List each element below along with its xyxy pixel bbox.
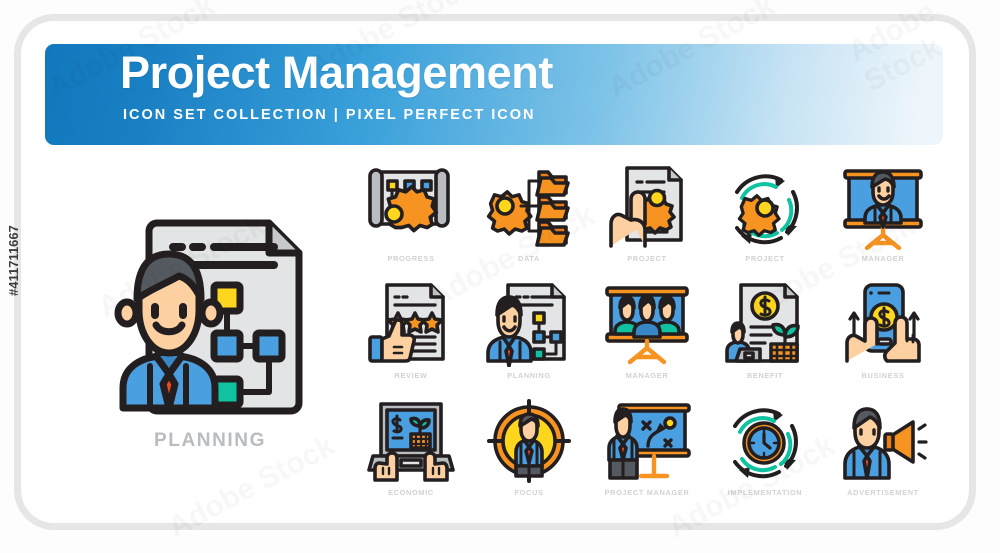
- icon-caption: BUSINESS: [862, 371, 905, 380]
- icon-cell-planning[interactable]: PLANNING: [470, 279, 588, 396]
- page-subtitle: ICON SET COLLECTION | PIXEL PERFECT ICON: [123, 107, 535, 123]
- icon-caption: ADVERTISEMENT: [847, 488, 919, 497]
- icon-cell-benefit[interactable]: BENEFIT: [706, 279, 824, 396]
- presentation-board-team-icon: [601, 279, 693, 367]
- person-strategy-board-icon: [601, 396, 693, 484]
- person-flowchart-document-icon: [483, 279, 575, 367]
- hero-label: PLANNING: [154, 430, 266, 452]
- icon-caption: MANAGER: [626, 371, 669, 380]
- blueprint-gear-icon: [365, 162, 457, 250]
- icon-cell-progress[interactable]: PROGRESS: [352, 162, 470, 279]
- planning-document-person-icon: [110, 215, 310, 420]
- presentation-board-person-icon: [837, 162, 929, 250]
- icon-caption: MANAGER: [862, 254, 905, 263]
- icon-caption: ECONOMIC: [388, 488, 434, 497]
- icon-caption: FOCUS: [514, 488, 543, 497]
- thumbs-up-star-rating-document-icon: [365, 279, 457, 367]
- icon-cell-manager-team[interactable]: MANAGER: [588, 279, 706, 396]
- icon-caption: PROJECT: [627, 254, 666, 263]
- target-person-icon: [483, 396, 575, 484]
- icon-caption: DATA: [518, 254, 540, 263]
- icon-cell-manager-board[interactable]: MANAGER: [824, 162, 942, 279]
- icon-cell-economic[interactable]: ECONOMIC: [352, 396, 470, 513]
- header-banner: Project Management ICON SET COLLECTION |…: [45, 44, 943, 145]
- icon-cell-review[interactable]: REVIEW: [352, 279, 470, 396]
- icon-cell-data[interactable]: DATA: [470, 162, 588, 279]
- icon-cell-implementation[interactable]: IMPLEMENTATION: [706, 396, 824, 513]
- icon-cell-project-doc[interactable]: PROJECT: [588, 162, 706, 279]
- page-title: Project Management: [120, 47, 553, 99]
- gear-folder-tree-icon: [483, 162, 575, 250]
- icon-caption: REVIEW: [394, 371, 427, 380]
- icon-caption: PLANNING: [507, 371, 551, 380]
- hero-block: PLANNING: [95, 215, 325, 475]
- icon-caption: PROJECT: [745, 254, 784, 263]
- mobile-dollar-hand-icon: [837, 279, 929, 367]
- icon-caption: BENEFIT: [747, 371, 783, 380]
- icon-cell-project-manager[interactable]: PROJECT MANAGER: [588, 396, 706, 513]
- icon-cell-business[interactable]: BUSINESS: [824, 279, 942, 396]
- icon-caption: IMPLEMENTATION: [728, 488, 803, 497]
- icon-caption: PROGRESS: [387, 254, 434, 263]
- stock-image-id: #411711667: [6, 225, 21, 296]
- clock-cycle-arrows-icon: [719, 396, 811, 484]
- gear-cycle-arrows-icon: [719, 162, 811, 250]
- icon-cell-focus[interactable]: FOCUS: [470, 396, 588, 513]
- laptop-dollar-plant-hands-icon: [365, 396, 457, 484]
- dollar-document-plant-coins-icon: [719, 279, 811, 367]
- icon-grid: PROGRESS DATA: [352, 162, 942, 512]
- icon-cell-advertisement[interactable]: ADVERTISEMENT: [824, 396, 942, 513]
- icon-caption: PROJECT MANAGER: [605, 488, 690, 497]
- hand-document-gear-icon: [601, 162, 693, 250]
- icon-cell-project-cycle[interactable]: PROJECT: [706, 162, 824, 279]
- person-megaphone-icon: [837, 396, 929, 484]
